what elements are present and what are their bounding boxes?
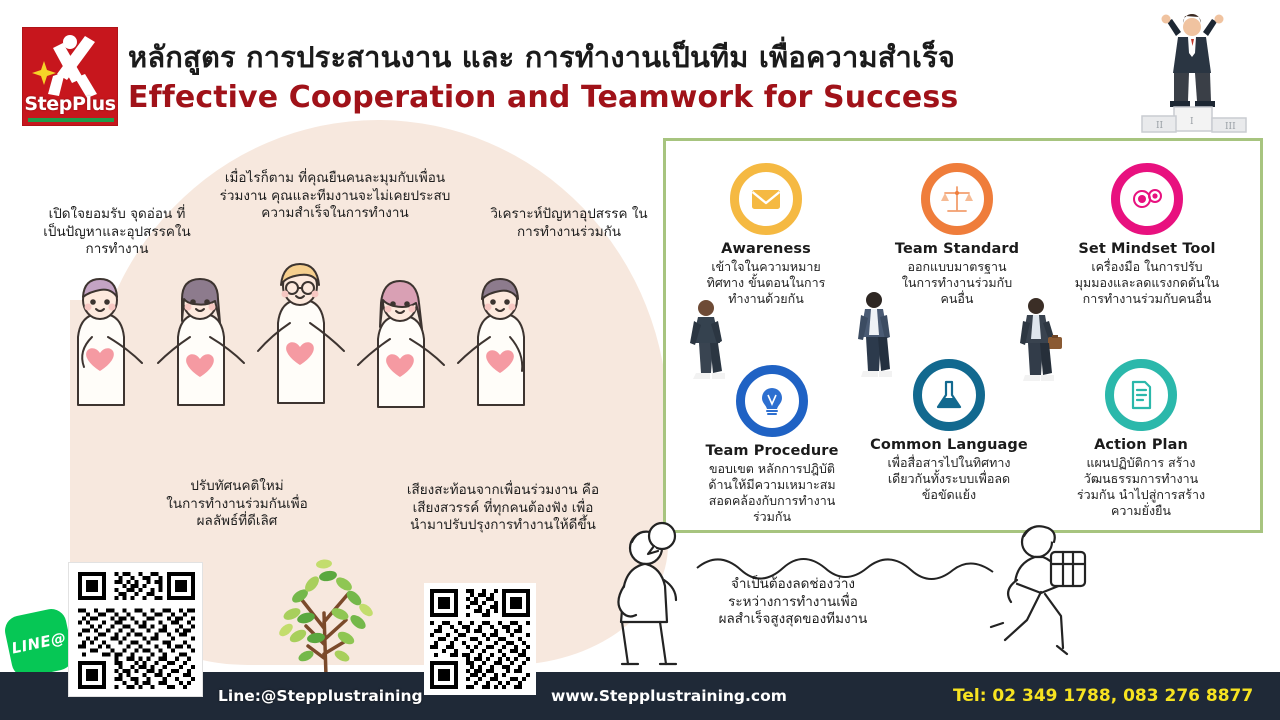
desc-line: ร่วมกัน bbox=[753, 509, 791, 524]
note-line: เมื่อไรก็ตาม ที่คุณยืนคนละมุมกับเพื่อน bbox=[199, 170, 471, 188]
note-line: นำมาปรับปรุงการทำงานให้ดีขึ้น bbox=[378, 517, 628, 535]
panel-item-set-mindset-tool[interactable]: Set Mindset Tool เครื่องมือ ในการปรับ มุ… bbox=[1054, 163, 1240, 307]
logo-underline bbox=[28, 118, 114, 122]
tree-illustration bbox=[262, 518, 392, 678]
competency-panel: Awareness เข้าใจในความหมาย ทิศทาง ขั้นตอ… bbox=[663, 138, 1263, 533]
panel-item-desc: แผนปฏิบัติการ สร้าง วัฒนธรรมการทำงาน ร่ว… bbox=[1048, 455, 1234, 519]
svg-text:I: I bbox=[1190, 117, 1194, 127]
desc-line: เดียวกันทั้งระบบเพื่อลด bbox=[888, 471, 1010, 486]
note-feedback: เสียงสะท้อนจากเพื่อนร่วมงาน คือ เสียงสวร… bbox=[378, 482, 628, 535]
note-line: ร่วมงาน คุณและทีมงานจะไม่เคยประสบ bbox=[199, 188, 471, 206]
desc-line: คนอื่น bbox=[941, 291, 974, 306]
svg-text:II: II bbox=[1156, 121, 1164, 131]
note-line: ระหว่างการทำงานเพื่อ bbox=[668, 594, 918, 612]
note-line: ปรับทัศนคติใหม่ bbox=[122, 478, 352, 496]
document-lines-icon bbox=[1124, 378, 1158, 412]
desc-line: ขอบเขต หลักการปฎิบัติ bbox=[709, 461, 835, 476]
document-lines-icon-ring bbox=[1105, 359, 1177, 431]
qr-code-line[interactable] bbox=[68, 562, 203, 697]
note-line: ความสำเร็จในการทำงาน bbox=[199, 205, 471, 223]
panel-item-title: Action Plan bbox=[1048, 437, 1234, 453]
note-line: เสียงสวรรค์ ที่ทุกคนต้องฟัง เพื่อ bbox=[378, 500, 628, 518]
line-badge[interactable]: LINE@ bbox=[2, 606, 76, 680]
qr-code-website[interactable] bbox=[424, 583, 536, 695]
scales-balance-icon-ring bbox=[921, 163, 993, 235]
qr-code-line-image bbox=[78, 572, 195, 689]
panel-item-awareness[interactable]: Awareness เข้าใจในความหมาย ทิศทาง ขั้นตอ… bbox=[673, 163, 859, 307]
note-line: เสียงสะท้อนจากเพื่อนร่วมงาน คือ bbox=[378, 482, 628, 500]
desc-line: เข้าใจในความหมาย bbox=[711, 259, 820, 274]
desc-line: มุมมองและลดแรงกดดันใน bbox=[1075, 275, 1219, 290]
note-stand-apart: เมื่อไรก็ตาม ที่คุณยืนคนละมุมกับเพื่อน ร… bbox=[199, 170, 471, 223]
desc-line: เพื่อสื่อสารไปในทิศทาง bbox=[888, 455, 1011, 470]
panel-item-title: Awareness bbox=[673, 241, 859, 257]
note-line: เป็นปัญหาและอุปสรรคใน bbox=[14, 224, 220, 242]
note-line: การทำงาน bbox=[14, 241, 220, 259]
panel-item-team-standard[interactable]: Team Standard ออกแบบมาตรฐาน ในการทำงานร่… bbox=[864, 163, 1050, 307]
note-analyze-problem: วิเคราะห์ปัญหาอุปสรรค ใน การทำงานร่วมกัน bbox=[470, 206, 668, 241]
note-new-attitude: ปรับทัศนคติใหม่ ในการทำงานร่วมกันเพื่อ ผ… bbox=[122, 478, 352, 531]
svg-text:III: III bbox=[1225, 122, 1236, 132]
flask-icon bbox=[932, 378, 966, 412]
note-line: การทำงานร่วมกัน bbox=[470, 224, 668, 242]
desc-line: สอดคล้องกับการทำงาน bbox=[709, 493, 836, 508]
panel-item-team-procedure[interactable]: Team Procedure ขอบเขต หลักการปฎิบัติ ด้า… bbox=[679, 365, 865, 525]
stepplus-logo[interactable]: StepPlus bbox=[22, 27, 118, 126]
lightbulb-icon bbox=[755, 384, 789, 418]
note-line: ผลลัพธ์ที่ดีเลิศ bbox=[122, 513, 352, 531]
desc-line: ด้านให้มีความเหมาะสม bbox=[708, 477, 835, 492]
footer-line-id[interactable]: Line:@Stepplustraining bbox=[218, 687, 423, 705]
slide-canvas: StepPlus หลักสูตร การประสานงาน และ การทำ… bbox=[0, 0, 1280, 720]
note-reduce-gap: จำเป็นต้องลดช่องว่าง ระหว่างการทำงานเพื่… bbox=[668, 576, 918, 629]
desc-line: แผนปฏิบัติการ สร้าง bbox=[1086, 455, 1195, 470]
desc-line: วัฒนธรรมการทำงาน bbox=[1084, 471, 1198, 486]
team-people-illustration bbox=[60, 255, 600, 470]
panel-item-title: Common Language bbox=[856, 437, 1042, 453]
panel-item-desc: ขอบเขต หลักการปฎิบัติ ด้านให้มีความเหมาะ… bbox=[679, 461, 865, 525]
desc-line: ข้อขัดแย้ง bbox=[922, 487, 976, 502]
walking-businessman-2 bbox=[852, 291, 896, 383]
podium-winner-illustration: I II III bbox=[1140, 6, 1258, 138]
desc-line: ออกแบบมาตรฐาน bbox=[907, 259, 1006, 274]
panel-item-desc: เครื่องมือ ในการปรับ มุมมองและลดแรงกดดัน… bbox=[1054, 259, 1240, 307]
logo-wordmark: StepPlus bbox=[24, 93, 115, 115]
note-open-mind: เปิดใจยอมรับ จุดอ่อน ที่ เป็นปัญหาและอุป… bbox=[14, 206, 220, 259]
eyes-target-icon bbox=[1130, 182, 1164, 216]
panel-item-title: Set Mindset Tool bbox=[1054, 241, 1240, 257]
panel-item-desc: เพื่อสื่อสารไปในทิศทาง เดียวกันทั้งระบบเ… bbox=[856, 455, 1042, 503]
desc-line: ร่วมกัน นำไปสู่การสร้าง bbox=[1077, 487, 1205, 502]
desc-line: ทำงานด้วยกัน bbox=[728, 291, 804, 306]
flask-icon-ring bbox=[913, 359, 985, 431]
walking-businessman-3 bbox=[1014, 297, 1062, 387]
desc-line: เครื่องมือ ในการปรับ bbox=[1091, 259, 1202, 274]
note-line: เปิดใจยอมรับ จุดอ่อน ที่ bbox=[14, 206, 220, 224]
panel-item-title: Team Standard bbox=[864, 241, 1050, 257]
envelope-icon-ring bbox=[730, 163, 802, 235]
note-line: ในการทำงานร่วมกันเพื่อ bbox=[122, 496, 352, 514]
note-line: จำเป็นต้องลดช่องว่าง bbox=[668, 576, 918, 594]
page-title-thai: หลักสูตร การประสานงาน และ การทำงานเป็นที… bbox=[128, 34, 955, 80]
envelope-icon bbox=[749, 182, 783, 216]
scales-balance-icon bbox=[940, 182, 974, 216]
footer-telephone[interactable]: Tel: 02 349 1788, 083 276 8877 bbox=[953, 686, 1253, 706]
panel-item-action-plan[interactable]: Action Plan แผนปฏิบัติการ สร้าง วัฒนธรรม… bbox=[1048, 359, 1234, 519]
panel-item-title: Team Procedure bbox=[679, 443, 865, 459]
eyes-target-icon-ring bbox=[1111, 163, 1183, 235]
desc-line: การทำงานร่วมกับคนอื่น bbox=[1083, 291, 1212, 306]
qr-code-website-image bbox=[430, 589, 530, 689]
footer-website[interactable]: www.Stepplustraining.com bbox=[551, 687, 787, 705]
page-title-english: Effective Cooperation and Teamwork for S… bbox=[128, 80, 958, 115]
note-line: วิเคราะห์ปัญหาอุปสรรค ใน bbox=[470, 206, 668, 224]
desc-line: ความยั่งยืน bbox=[1111, 503, 1171, 518]
person-running-illustration bbox=[985, 518, 1115, 673]
lightbulb-icon-ring bbox=[736, 365, 808, 437]
desc-line: ในการทำงานร่วมกับ bbox=[902, 275, 1012, 290]
note-line: ผลสำเร็จสูงสุดของทีมงาน bbox=[668, 611, 918, 629]
desc-line: ทิศทาง ขั้นตอนในการ bbox=[707, 275, 826, 290]
walking-businessman-1 bbox=[684, 299, 728, 383]
